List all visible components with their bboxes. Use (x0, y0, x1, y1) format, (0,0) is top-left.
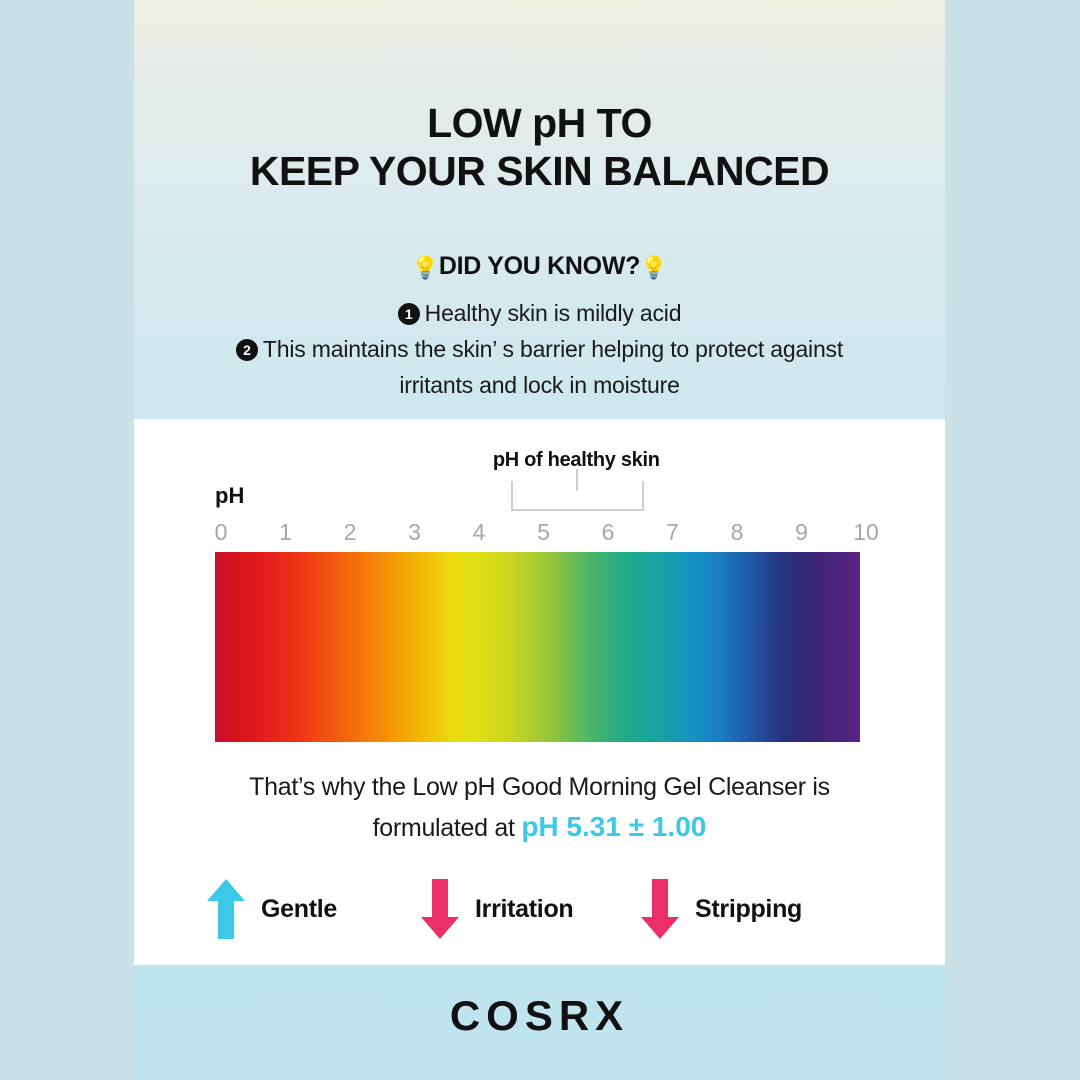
ph-tick-7: 7 (666, 519, 679, 546)
ph-scale-chart: pH of healthy skin pH 012345678910 (134, 419, 945, 759)
headline-line-1: LOW pH TO (427, 100, 652, 146)
facts-list: 1Healthy skin is mildly acid 2This maint… (134, 295, 945, 403)
benefit-item-stripping: Stripping (639, 874, 802, 944)
arrow-down-icon (639, 877, 681, 941)
ph-tick-4: 4 (473, 519, 486, 546)
page-title: LOW pH TO KEEP YOUR SKIN BALANCED (134, 100, 945, 195)
arrow-down-icon (419, 877, 461, 941)
formulation-text: That’s why the Low pH Good Morning Gel C… (134, 767, 945, 848)
formulation-line-2: formulated at pH 5.31 ± 1.00 (134, 807, 945, 848)
fact-text-1: Healthy skin is mildly acid (425, 300, 682, 326)
ph-tick-3: 3 (408, 519, 421, 546)
healthy-skin-bracket-label: pH of healthy skin (134, 449, 945, 472)
benefit-item-gentle: Gentle (205, 874, 337, 944)
ph-scale-card: pH of healthy skin pH 012345678910 That’… (134, 419, 945, 965)
ph-gradient-bar (215, 552, 860, 742)
formulation-prefix: formulated at (373, 814, 522, 842)
ph-axis-label: pH (215, 483, 244, 509)
brand-logo: COSRX (134, 992, 945, 1040)
infographic-root: LOW pH TO KEEP YOUR SKIN BALANCED 💡DID Y… (0, 0, 1080, 1080)
benefit-label-stripping: Stripping (695, 895, 802, 924)
benefits-row: GentleIrritationStripping (134, 874, 945, 954)
ph-tick-9: 9 (795, 519, 808, 546)
benefit-label-gentle: Gentle (261, 895, 337, 924)
fact-item-1: 1Healthy skin is mildly acid (134, 295, 945, 331)
ph-value-badge: pH 5.31 ± 1.00 (521, 811, 706, 842)
ph-tick-10: 10 (853, 519, 879, 546)
did-you-know-heading: 💡DID YOU KNOW?💡 (134, 252, 945, 281)
arrow-up-icon (205, 877, 247, 941)
healthy-skin-bracket-text: pH of healthy skin (493, 449, 660, 471)
formulation-line-1: That’s why the Low pH Good Morning Gel C… (134, 767, 945, 807)
ph-tick-0: 0 (215, 519, 228, 546)
fact-item-2: 2This maintains the skin’ s barrier help… (134, 331, 945, 367)
fact-text-2-line-2: irritants and lock in moisture (134, 367, 945, 403)
did-you-know-label: DID YOU KNOW? (439, 252, 640, 280)
ph-tick-2: 2 (344, 519, 357, 546)
ph-tick-8: 8 (731, 519, 744, 546)
ph-tick-labels: 012345678910 (134, 519, 945, 549)
fact-number-1: 1 (398, 303, 420, 325)
benefit-label-irritation: Irritation (475, 895, 573, 924)
fact-text-2-line-1: This maintains the skin’ s barrier helpi… (263, 336, 843, 362)
ph-tick-5: 5 (537, 519, 550, 546)
lightbulb-icon-left: 💡 (412, 255, 439, 280)
ph-tick-6: 6 (602, 519, 615, 546)
ph-tick-1: 1 (279, 519, 292, 546)
lightbulb-icon-right: 💡 (640, 255, 667, 280)
bracket-range (511, 481, 644, 511)
benefit-item-irritation: Irritation (419, 874, 573, 944)
headline-line-2: KEEP YOUR SKIN BALANCED (134, 148, 945, 195)
fact-number-2: 2 (236, 339, 258, 361)
